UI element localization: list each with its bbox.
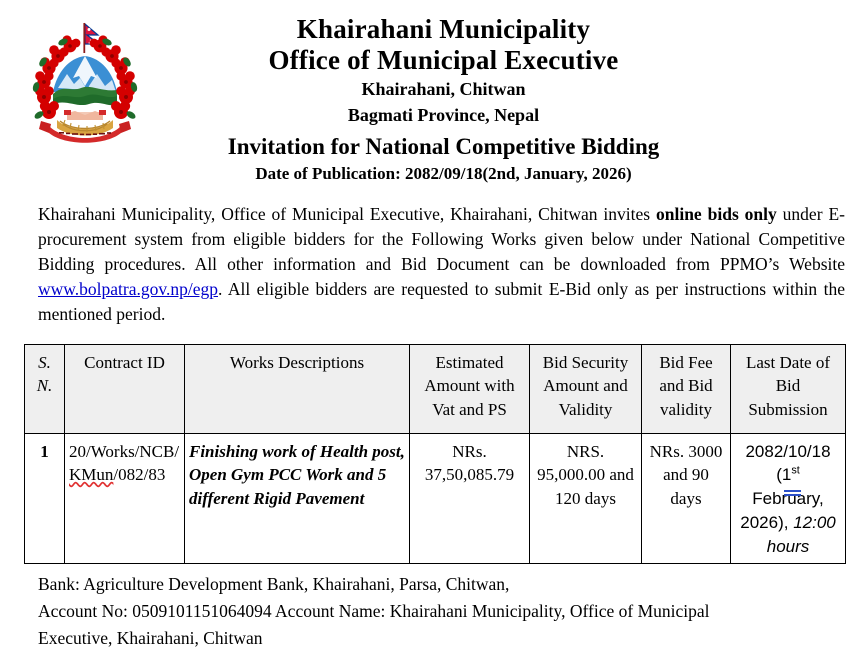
ordinal-day-marker: (1st (776, 463, 800, 487)
column-header-last-date: Last Date of Bid Submission (731, 344, 846, 433)
notice-text-part1: Khairahani Municipality, Office of Munic… (38, 204, 656, 224)
cell-bid-fee: NRs. 3000 and 90 days (642, 433, 731, 563)
province-line: Bagmati Province, Nepal (170, 103, 717, 129)
ordinal-suffix: st (791, 465, 799, 477)
notice-paragraph: Khairahani Municipality, Office of Munic… (38, 202, 845, 326)
cell-works-descriptions: Finishing work of Health post, Open Gym … (185, 433, 410, 563)
contract-id-part2: /082/83 (113, 465, 165, 484)
column-header-bid-security: Bid Security Amount and Validity (530, 344, 642, 433)
ordinal-number: (1 (776, 465, 791, 484)
cell-contract-id: 20/Works/NCB/KMun/082/83 (65, 433, 185, 563)
column-header-sn: S. N. (25, 344, 65, 433)
location-line: Khairahani, Chitwan (170, 77, 717, 103)
bid-table-container: S. N. Contract ID Works Descriptions Est… (24, 344, 845, 564)
contract-id-misspelled-token: KMun (69, 465, 113, 484)
autocorrect-bar2-icon[interactable] (784, 494, 801, 496)
column-header-contract-id: Contract ID (65, 344, 185, 433)
publication-date: Date of Publication: 2082/09/18(2nd, Jan… (170, 163, 717, 186)
document-masthead: Khairahani Municipality Office of Munici… (0, 0, 867, 186)
office-name: Office of Municipal Executive (170, 45, 717, 77)
column-header-works-descriptions: Works Descriptions (185, 344, 410, 433)
title-block: Khairahani Municipality Office of Munici… (170, 14, 867, 186)
column-header-bid-fee: Bid Fee and Bid validity (642, 344, 731, 433)
autocorrect-bar-icon[interactable] (784, 490, 801, 492)
nepal-government-emblem-icon (27, 20, 143, 144)
emblem-container (0, 14, 170, 144)
cell-bid-security: NRS. 95,000.00 and 120 days (530, 433, 642, 563)
table-header-row: S. N. Contract ID Works Descriptions Est… (25, 344, 846, 433)
bid-details-table: S. N. Contract ID Works Descriptions Est… (24, 344, 846, 564)
invitation-title: Invitation for National Competitive Bidd… (170, 128, 717, 163)
contract-id-part1: 20/Works/NCB/ (69, 442, 179, 461)
organization-name: Khairahani Municipality (170, 14, 717, 45)
cell-sn: 1 (25, 433, 65, 563)
cell-last-date: 2082/10/18(1stFebruary, 2026), 12:00 hou… (731, 433, 846, 563)
column-header-estimated-amount: Estimated Amount with Vat and PS (410, 344, 530, 433)
table-row: 1 20/Works/NCB/KMun/082/83 Finishing wor… (25, 433, 846, 563)
last-date-bs: 2082/10/18 (745, 442, 830, 461)
cell-estimated-amount: NRs. 37,50,085.79 (410, 433, 530, 563)
account-address-line: Executive, Khairahani, Chitwan (38, 625, 845, 652)
bolpatra-website-link[interactable]: www.bolpatra.gov.np/egp (38, 279, 218, 299)
bank-details-block: Bank: Agriculture Development Bank, Khai… (38, 571, 845, 652)
account-number-line: Account No: 0509101151064094 Account Nam… (38, 598, 845, 625)
bank-name-line: Bank: Agriculture Development Bank, Khai… (38, 571, 845, 598)
notice-emphasis-online-bids-only: online bids only (656, 204, 777, 224)
